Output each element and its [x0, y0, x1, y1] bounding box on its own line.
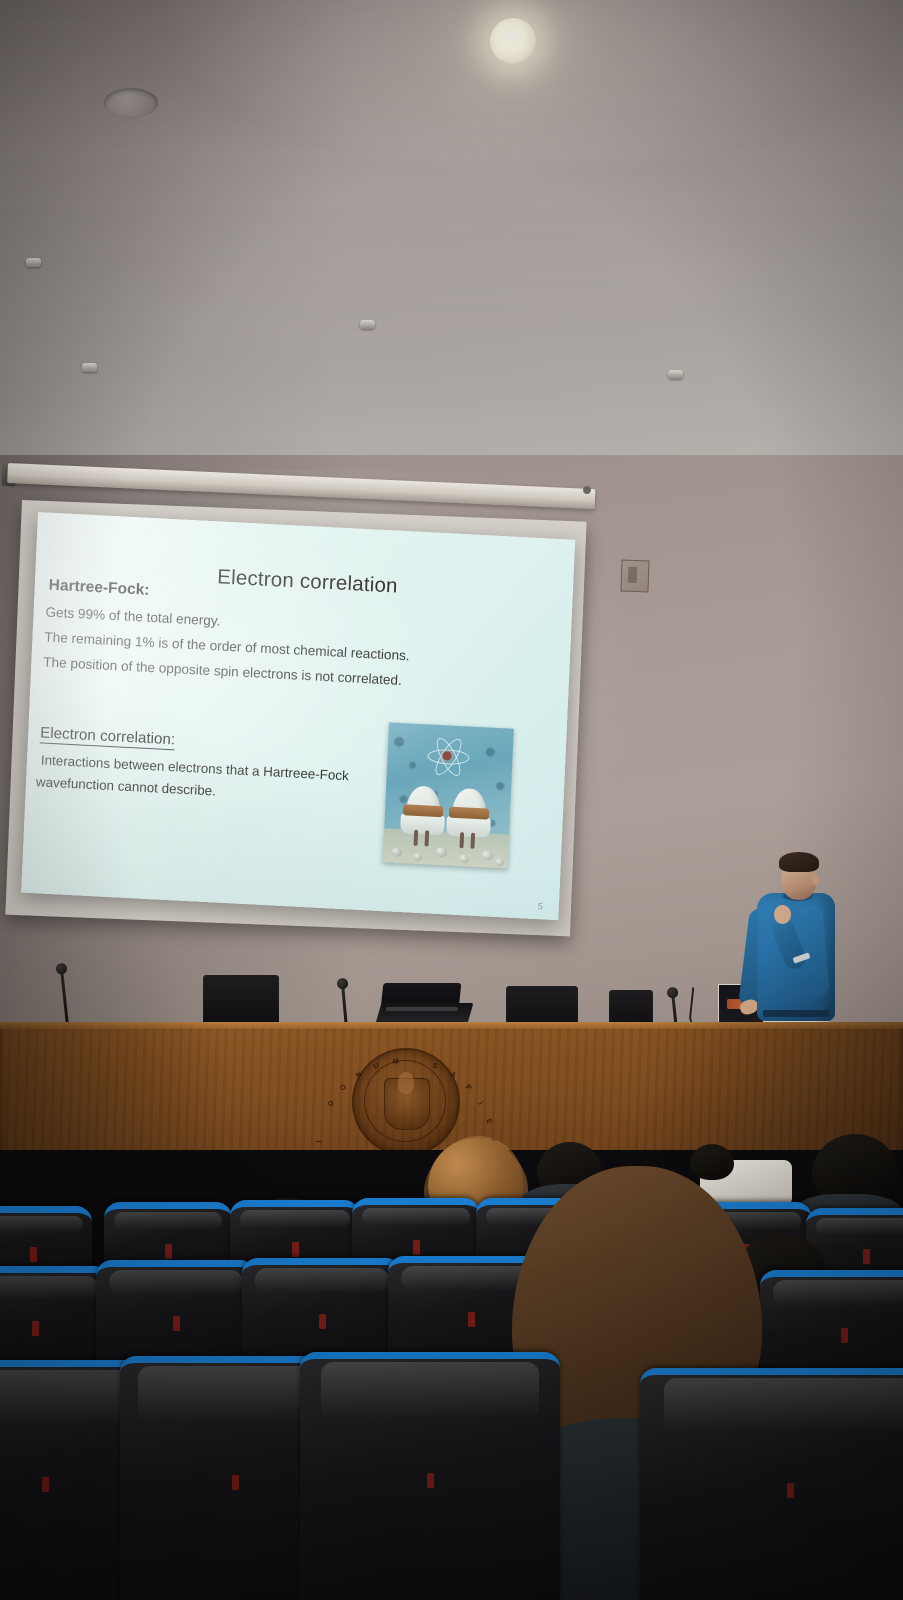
seat[interactable] — [300, 1352, 560, 1600]
attendee-head — [690, 1144, 734, 1180]
blindfolded-electrons-illustration — [383, 722, 514, 868]
downlight-icon — [490, 18, 536, 64]
electron-character-left — [402, 785, 444, 839]
seal-figure — [398, 1072, 414, 1094]
audience-seating-area — [0, 1150, 903, 1600]
seat[interactable] — [640, 1368, 903, 1600]
smoke-detector-icon — [82, 363, 97, 372]
screen-housing-nub — [583, 486, 591, 494]
speaker-waistband — [763, 1010, 829, 1017]
electron-character-right — [448, 788, 490, 842]
speaker-hair — [779, 852, 819, 872]
university-seal: SIBI DONUM SAPIENTIA — [352, 1048, 460, 1156]
ceiling-speaker-vent — [104, 88, 158, 118]
lecture-hall-photo: Electron correlation Hartree-Fock: Gets … — [0, 0, 903, 1600]
laptop-hinge — [386, 1007, 459, 1011]
speaker-right-hand — [774, 905, 791, 924]
smoke-detector-icon — [668, 370, 683, 379]
smoke-detector-icon — [26, 258, 41, 267]
suspended-tile-ceiling — [0, 0, 903, 500]
projected-slide: Electron correlation Hartree-Fock: Gets … — [21, 512, 575, 920]
wall-control-panel[interactable] — [620, 560, 649, 593]
slide-page-number: 5 — [538, 901, 543, 911]
atom-icon — [425, 734, 471, 776]
smoke-detector-icon — [360, 320, 375, 329]
panel-chair[interactable] — [203, 975, 279, 1025]
speaker-ear — [812, 875, 819, 885]
ceiling-shading — [0, 0, 903, 500]
